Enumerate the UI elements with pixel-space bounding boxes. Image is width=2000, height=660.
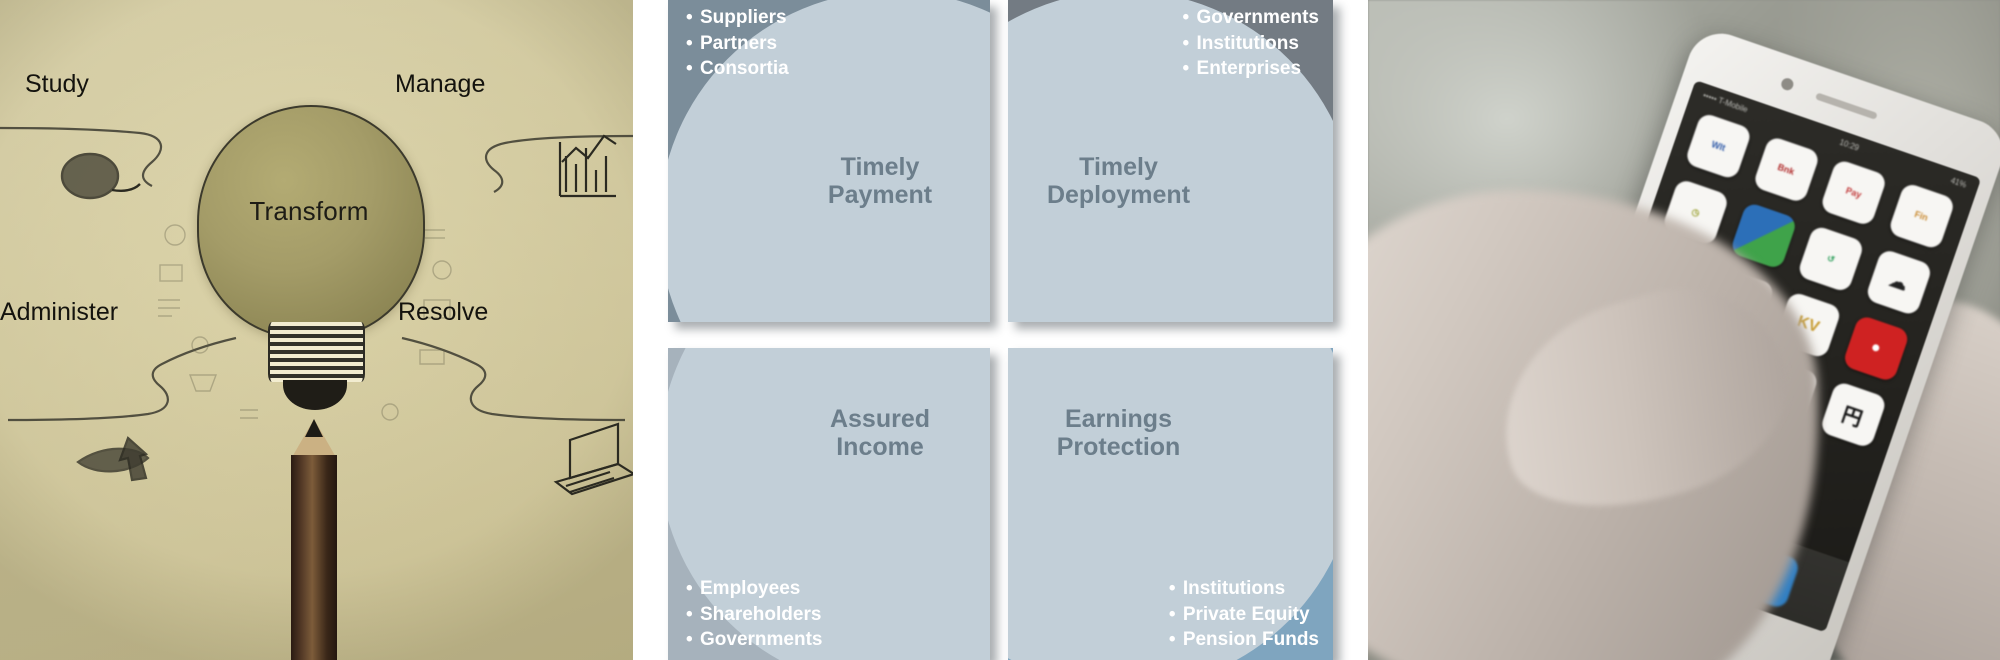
label-administer: Administer <box>0 298 118 327</box>
list-item: •Suppliers <box>686 5 789 31</box>
front-camera-icon <box>1780 77 1795 92</box>
label-manage: Manage <box>395 70 485 99</box>
bullet-label: Employees <box>700 578 800 599</box>
lightbulb-screw-base <box>268 322 365 382</box>
green-circle-app-icon[interactable]: ↺ <box>1797 225 1866 294</box>
clock-label: 10:29 <box>1838 137 1860 152</box>
list-item: •Private Equity <box>1169 602 1319 628</box>
bullet-label: Institutions <box>1183 578 1285 599</box>
bullet-label: Pension Funds <box>1183 629 1319 650</box>
quadrant-earnings-protection: Earnings Protection •Institutions •Priva… <box>1008 348 1333 660</box>
lightbulb-sketch-image: Transform Study Manage Administer Resolv… <box>0 0 633 660</box>
list-item: •Governments <box>1183 5 1319 31</box>
pencil-body <box>291 455 337 660</box>
quadrant-title-timely-payment: Timely Payment <box>780 153 980 209</box>
bullet-list-earnings-protection: •Institutions •Private Equity •Pension F… <box>1169 576 1319 653</box>
lightbulb-center-label: Transform <box>197 196 421 227</box>
bullet-label: Consortia <box>700 58 789 79</box>
finance-app-icon[interactable]: Fin <box>1887 182 1956 251</box>
label-study: Study <box>25 70 89 99</box>
red-runner-app-icon[interactable]: ● <box>1841 314 1910 383</box>
phone-earpiece <box>1815 92 1878 119</box>
bullet-list-assured-income: •Employees •Shareholders •Governments <box>686 576 822 653</box>
quadrant-timely-deployment: Timely Deployment •Governments •Institut… <box>1008 0 1333 322</box>
bullet-label: Enterprises <box>1197 58 1302 79</box>
battery-label: 41% <box>1950 175 1968 189</box>
magnifier-sketch-icon <box>62 154 140 198</box>
list-item: •Institutions <box>1183 31 1319 57</box>
quadrant-timely-payment: Timely Payment •Suppliers •Partners •Con… <box>668 0 990 322</box>
list-item: •Enterprises <box>1183 56 1319 82</box>
smartphone-photo: ••••• T-Mobile 10:29 41% Wlt Bnk Pay Fin… <box>1368 0 2000 660</box>
yen-app-icon[interactable]: 円 <box>1819 380 1888 449</box>
bar-chart-sketch-icon <box>560 136 616 196</box>
list-item: •Governments <box>686 627 822 653</box>
carrier-label: ••••• T-Mobile <box>1702 90 1749 114</box>
list-item: •Shareholders <box>686 602 822 628</box>
bullet-label: Partners <box>700 33 777 54</box>
three-panel-composite: Transform Study Manage Administer Resolv… <box>0 0 2000 660</box>
bullet-label: Suppliers <box>700 7 787 28</box>
label-resolve: Resolve <box>398 298 488 327</box>
payments-app-icon[interactable]: Pay <box>1819 158 1888 227</box>
leaf-arrow-sketch-icon <box>78 438 148 480</box>
quadrant-title-assured-income: Assured Income <box>780 405 980 461</box>
wallet-app-icon[interactable]: Wlt <box>1684 112 1753 181</box>
list-item: •Employees <box>686 576 822 602</box>
bullet-label: Shareholders <box>700 604 821 625</box>
bullet-list-timely-payment: •Suppliers •Partners •Consortia <box>686 5 789 82</box>
bank-app-icon[interactable]: Bnk <box>1752 135 1821 204</box>
laptop-sketch-icon <box>556 424 633 494</box>
globe-app-icon[interactable]: ☁ <box>1864 248 1933 317</box>
list-item: •Partners <box>686 31 789 57</box>
bullet-label: Governments <box>700 629 822 650</box>
list-item: •Institutions <box>1169 576 1319 602</box>
quadrant-assured-income: Assured Income •Employees •Shareholders … <box>668 348 990 660</box>
quadrant-title-earnings-protection: Earnings Protection <box>1016 405 1221 461</box>
bullet-label: Governments <box>1197 7 1319 28</box>
quadrant-circle-diagram: Timely Payment •Suppliers •Partners •Con… <box>668 0 1333 660</box>
list-item: •Consortia <box>686 56 789 82</box>
quadrant-title-timely-deployment: Timely Deployment <box>1016 153 1221 209</box>
list-item: •Pension Funds <box>1169 627 1319 653</box>
bullet-list-timely-deployment: •Governments •Institutions •Enterprises <box>1183 5 1319 82</box>
pencil-lead <box>305 419 323 437</box>
bullet-label: Private Equity <box>1183 604 1310 625</box>
bullet-label: Institutions <box>1197 33 1299 54</box>
